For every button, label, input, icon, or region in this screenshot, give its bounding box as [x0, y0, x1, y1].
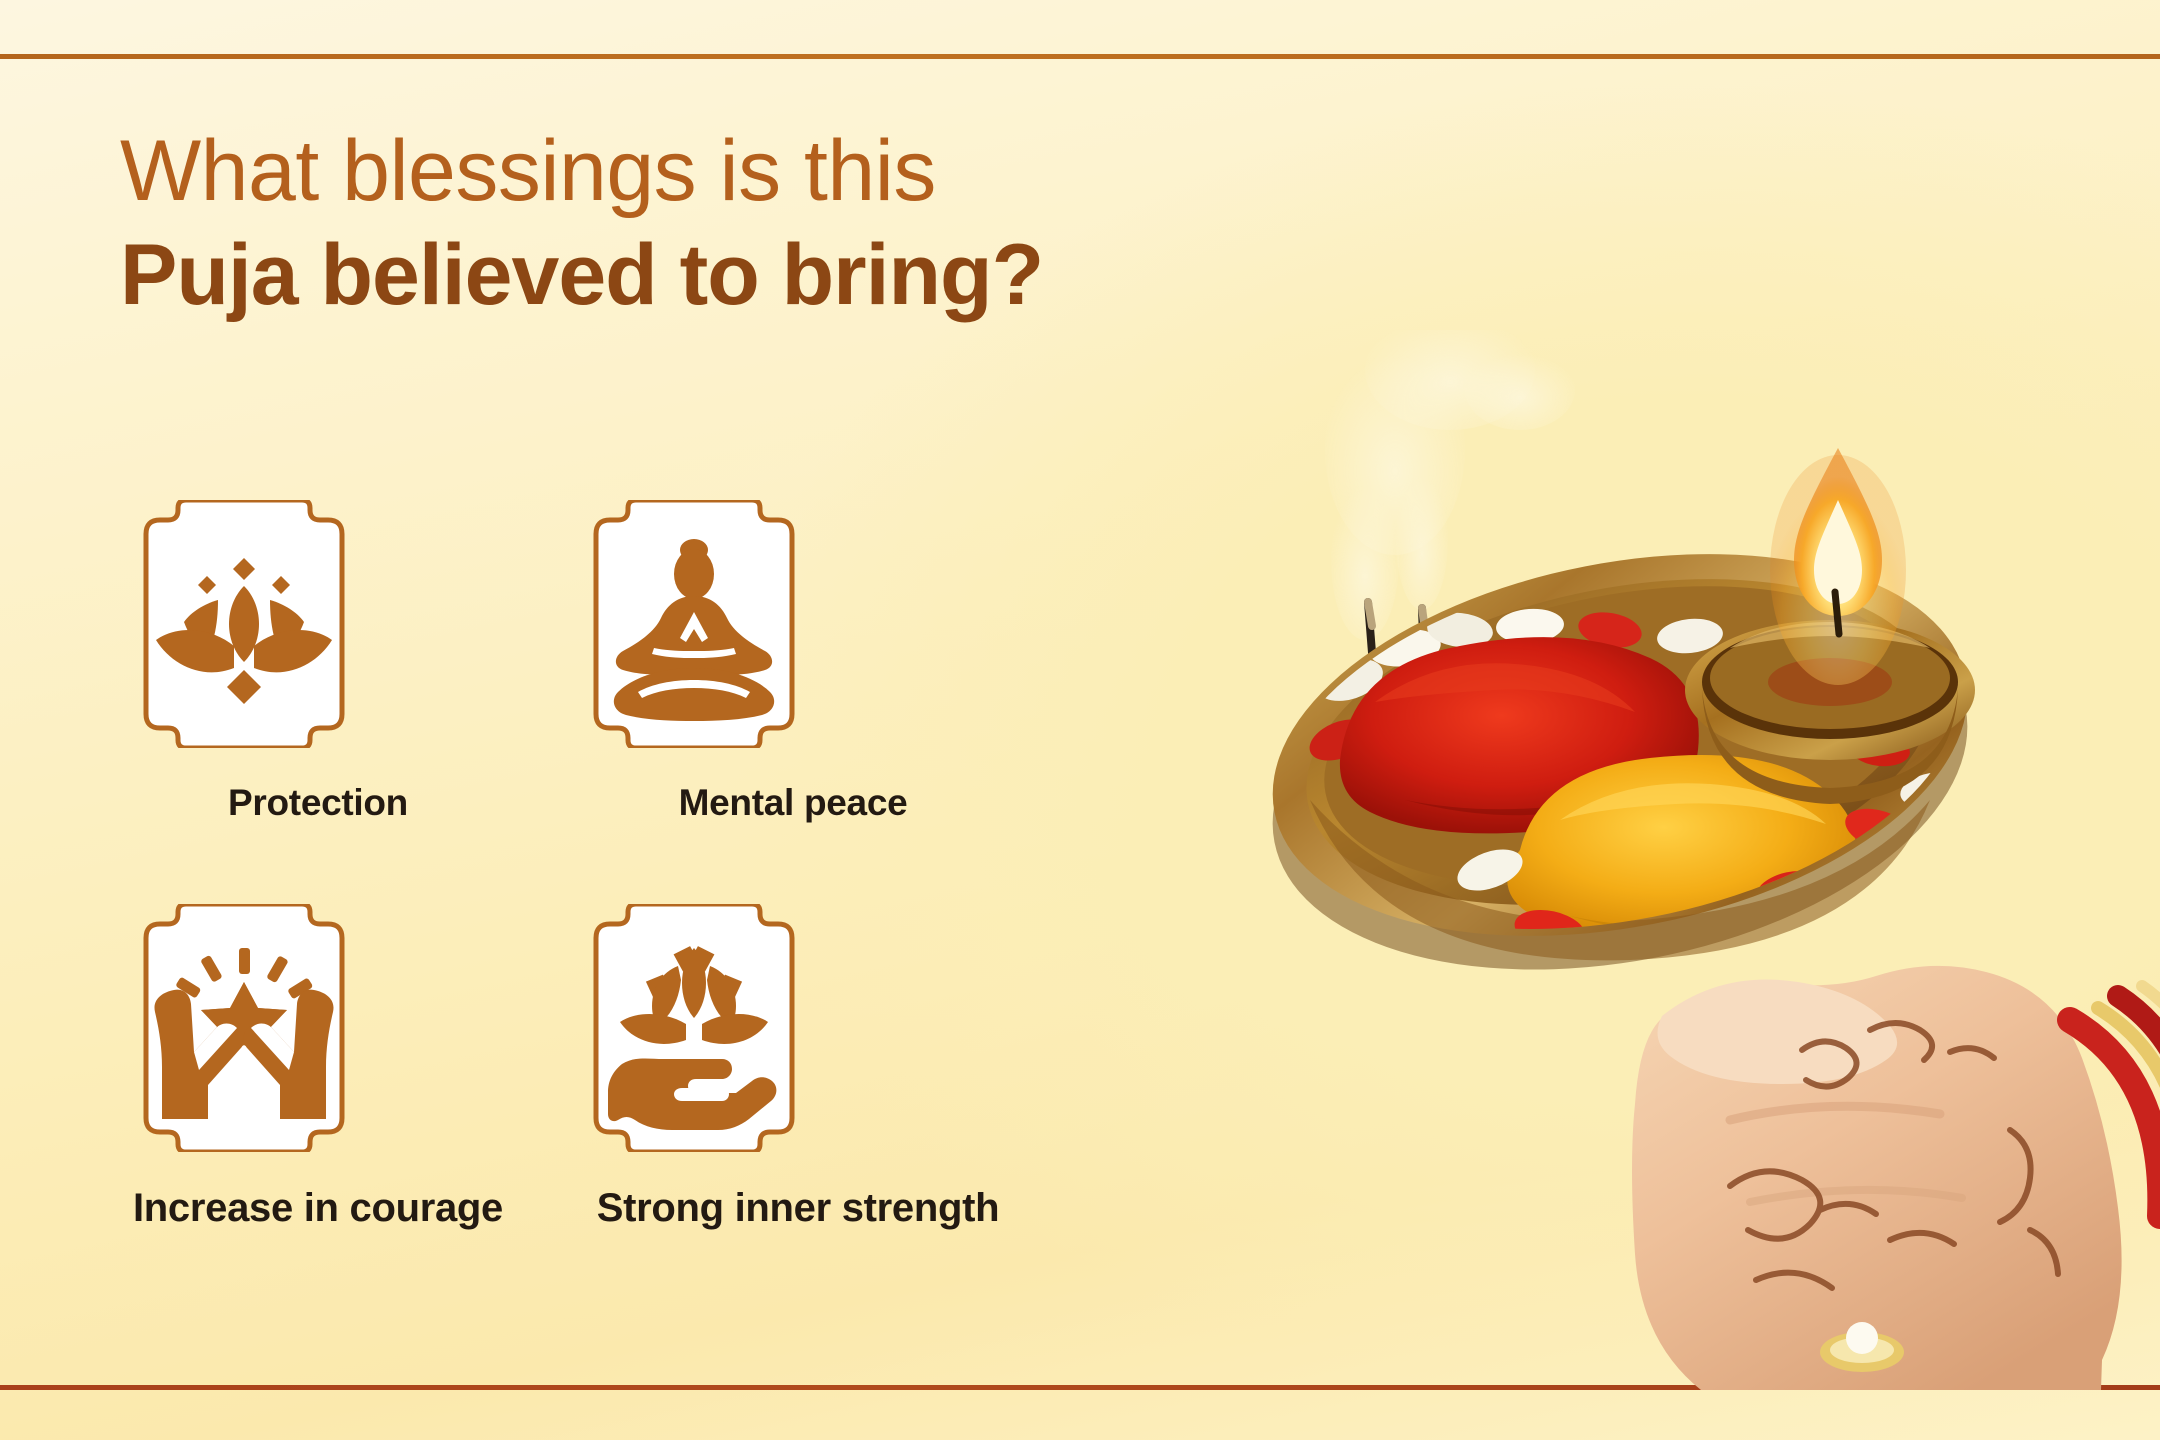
benefit-tile [120, 500, 368, 748]
top-divider-rule [0, 54, 2160, 59]
benefit-label: Protection [78, 782, 558, 824]
puja-thali-photo [1190, 330, 2160, 1390]
benefit-label: Increase in courage [78, 1186, 568, 1231]
lotus-icon [120, 500, 368, 748]
benefits-row-1: Protection [78, 500, 1078, 824]
benefit-item-strong-inner-strength[interactable]: Strong inner strength [558, 904, 1038, 1231]
hands-star-icon [120, 904, 368, 1152]
benefit-item-protection[interactable]: Protection [78, 500, 558, 824]
benefit-label: Mental peace [558, 782, 1028, 824]
headline-line-2: Puja believed to bring? [120, 232, 1420, 318]
benefits-grid: Protection [78, 500, 1078, 1231]
benefit-label: Strong inner strength [558, 1186, 1038, 1231]
headline-line-1: What blessings is this [120, 128, 1420, 214]
benefit-tile [120, 904, 368, 1152]
benefit-tile [570, 904, 818, 1152]
page-title: What blessings is this Puja believed to … [120, 128, 1420, 318]
henna-hand [1632, 966, 2122, 1390]
benefit-item-mental-peace[interactable]: Mental peace [558, 500, 1028, 824]
poster-canvas: What blessings is this Puja believed to … [0, 0, 2160, 1440]
hand-lotus-icon [570, 904, 818, 1152]
benefit-item-increase-in-courage[interactable]: Increase in courage [78, 904, 558, 1231]
meditation-icon [570, 500, 818, 748]
diya-flame [1770, 448, 1906, 685]
benefit-tile [570, 500, 818, 748]
benefits-row-2: Increase in courage [78, 904, 1078, 1231]
